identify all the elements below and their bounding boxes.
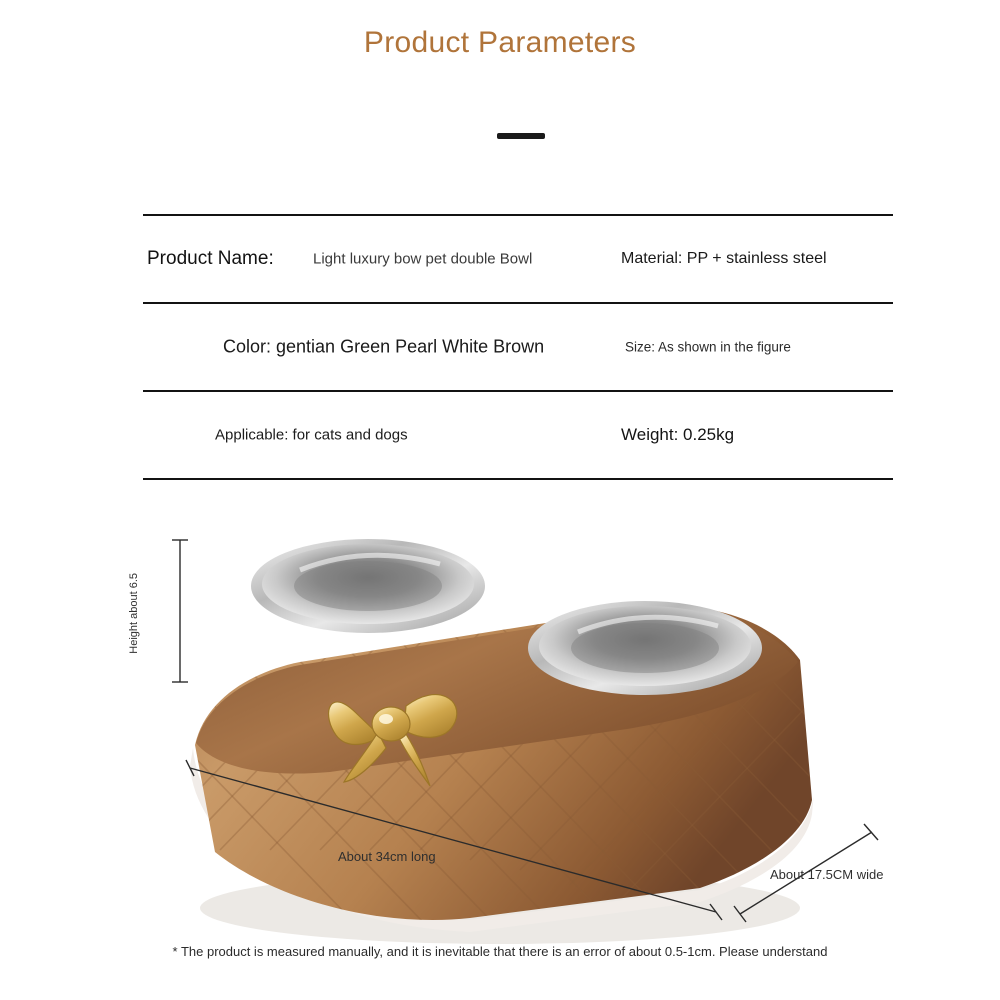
product-name-label: Product Name: [147, 248, 274, 270]
table-row: Applicable: for cats and dogs Weight: 0.… [143, 392, 893, 478]
product-illustration [0, 500, 1000, 960]
page-title: Product Parameters [0, 26, 1000, 60]
material-value: Material: PP + stainless steel [621, 250, 827, 268]
footnote: * The product is measured manually, and … [0, 944, 1000, 959]
color-value: Color: gentian Green Pearl White Brown [223, 337, 544, 358]
weight-value: Weight: 0.25kg [621, 425, 734, 445]
stainless-steel-bowl-icon-left [251, 539, 485, 633]
table-row: Product Name: Light luxury bow pet doubl… [143, 216, 893, 302]
dash-divider-icon [497, 133, 545, 139]
dimension-width-label: About 17.5CM wide [770, 867, 883, 882]
table-rule-bottom [143, 478, 893, 480]
spec-table: Product Name: Light luxury bow pet doubl… [143, 214, 893, 480]
applicable-value: Applicable: for cats and dogs [215, 427, 408, 444]
size-value: Size: As shown in the figure [625, 340, 791, 355]
dimension-height-label: Height about 6.5 [128, 573, 148, 654]
dimension-length-label: About 34cm long [338, 849, 436, 864]
product-name-value: Light luxury bow pet double Bowl [313, 251, 532, 268]
table-row: Color: gentian Green Pearl White Brown S… [143, 304, 893, 390]
stainless-steel-bowl-icon-right [528, 601, 762, 695]
